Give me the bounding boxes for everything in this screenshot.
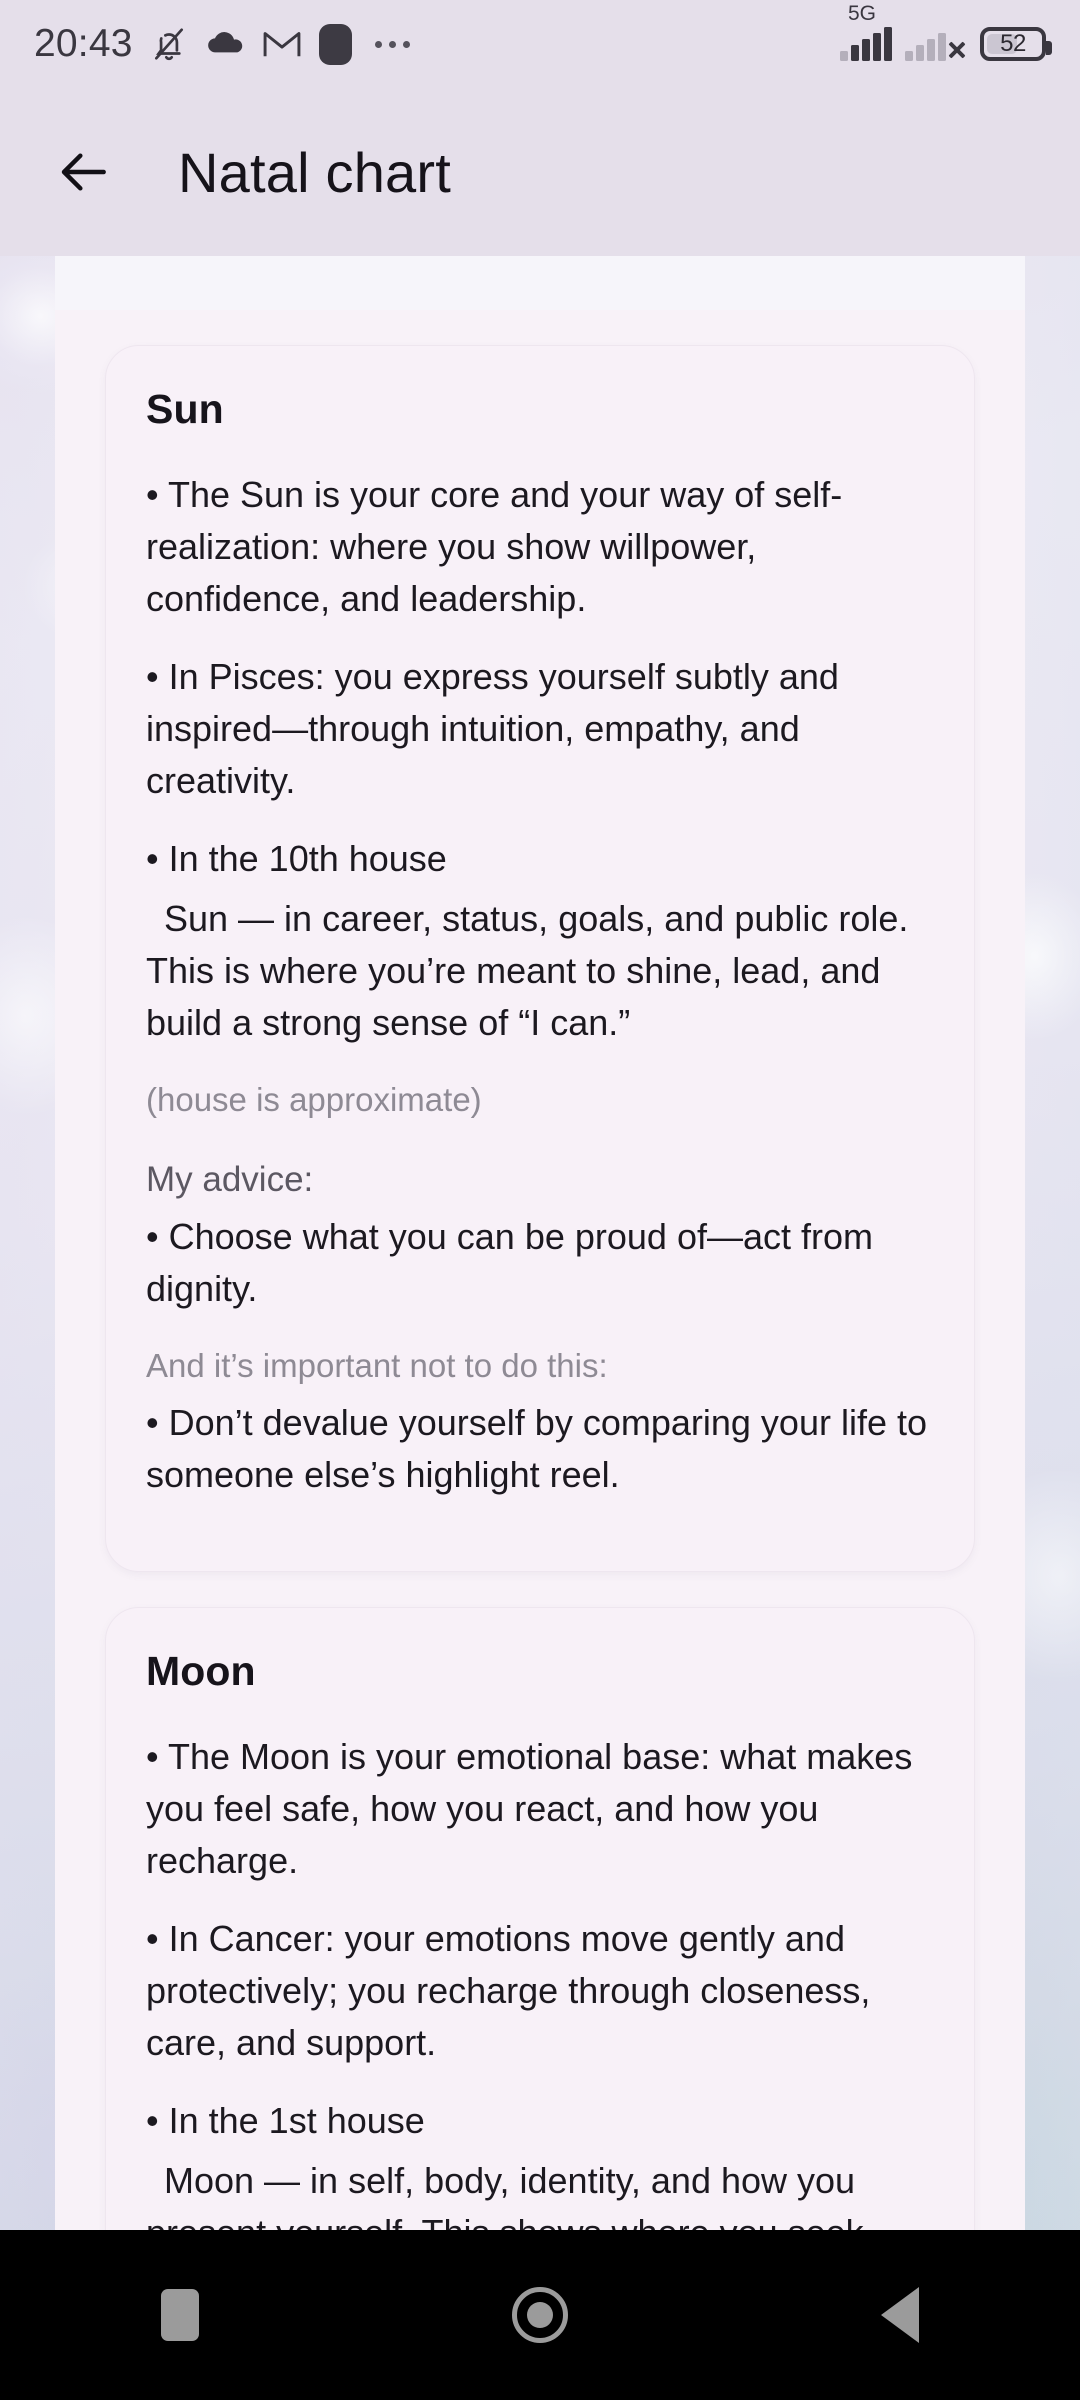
card-paragraph: • Choose what you can be proud of—act fr… bbox=[146, 1211, 934, 1315]
app-square-icon bbox=[319, 24, 352, 65]
app-bar: Natal chart bbox=[0, 88, 1080, 256]
card-paragraph: • The Moon is your emotional base: what … bbox=[146, 1731, 934, 1887]
gmail-icon bbox=[262, 27, 302, 61]
phone-screen: 20:43 bbox=[0, 0, 1080, 2400]
page-title: Natal chart bbox=[178, 140, 451, 205]
card-paragraph: And it’s important not to do this: bbox=[146, 1341, 934, 1391]
card-paragraph: My advice: bbox=[146, 1155, 934, 1205]
card-paragraph: Sun — in career, status, goals, and publ… bbox=[146, 893, 934, 1049]
bell-off-icon bbox=[150, 25, 188, 63]
status-bar: 20:43 bbox=[0, 0, 1080, 88]
card-paragraph: • In Pisces: you express yourself subtly… bbox=[146, 651, 934, 807]
back-arrow-icon bbox=[57, 144, 113, 200]
overflow-dots-icon bbox=[375, 41, 410, 48]
planet-card[interactable]: Moon• The Moon is your emotional base: w… bbox=[105, 1607, 975, 2230]
signal-sim2-no-service-icon bbox=[905, 27, 967, 61]
card-paragraph: • In the 10th house bbox=[146, 833, 934, 885]
card-paragraph: (house is approximate) bbox=[146, 1075, 934, 1125]
card-paragraph: • In Cancer: your emotions move gently a… bbox=[146, 1913, 934, 2069]
recents-square-icon bbox=[161, 2289, 199, 2341]
card-paragraph: Moon — in self, body, identity, and how … bbox=[146, 2155, 934, 2230]
planet-card[interactable]: Sun• The Sun is your core and your way o… bbox=[105, 345, 975, 1572]
home-circle-icon bbox=[512, 2287, 568, 2343]
battery-icon: 52 bbox=[980, 27, 1046, 61]
battery-percent-label: 52 bbox=[1000, 30, 1026, 58]
status-time: 20:43 bbox=[34, 22, 133, 66]
back-button[interactable] bbox=[30, 117, 140, 227]
signal-sim1-icon: 5G bbox=[840, 27, 892, 61]
card-paragraph: • Don’t devalue yourself by comparing yo… bbox=[146, 1397, 934, 1501]
status-bar-left: 20:43 bbox=[34, 22, 840, 66]
system-navigation-bar bbox=[0, 2230, 1080, 2400]
back-triangle-icon bbox=[881, 2287, 919, 2343]
status-bar-right: 5G 52 bbox=[840, 27, 1046, 61]
card-paragraph: • In the 1st house bbox=[146, 2095, 934, 2147]
home-button[interactable] bbox=[465, 2240, 615, 2390]
card-title: Sun bbox=[146, 386, 934, 433]
cards-scroll-area[interactable]: Sun• The Sun is your core and your way o… bbox=[55, 310, 1025, 2230]
card-title: Moon bbox=[146, 1648, 934, 1695]
network-type-label: 5G bbox=[848, 3, 876, 24]
card-paragraph: • The Sun is your core and your way of s… bbox=[146, 469, 934, 625]
cards-host: Sun• The Sun is your core and your way o… bbox=[55, 345, 1025, 2230]
cloud-icon bbox=[205, 29, 245, 59]
recents-button[interactable] bbox=[105, 2240, 255, 2390]
back-nav-button[interactable] bbox=[825, 2240, 975, 2390]
